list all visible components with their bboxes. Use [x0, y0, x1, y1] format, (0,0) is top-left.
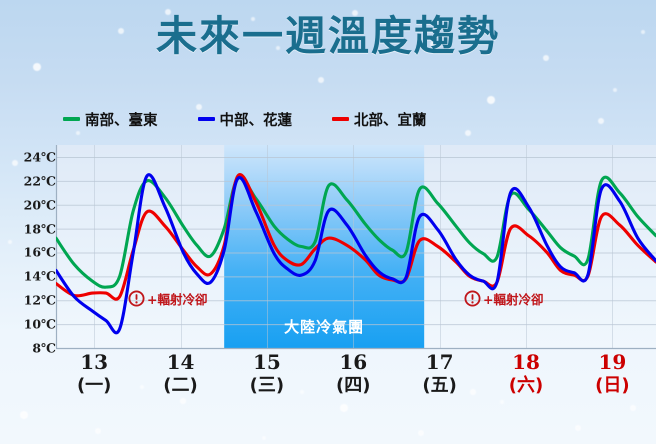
- snow-dot: [318, 77, 324, 83]
- line-swatch-icon: [63, 117, 80, 121]
- x-axis-weekday: (六): [489, 374, 563, 398]
- x-axis-day-number: 13: [57, 350, 131, 374]
- line-swatch-icon: [332, 117, 349, 121]
- x-axis-weekday: (二): [144, 374, 218, 398]
- x-axis-weekday: (四): [316, 374, 390, 398]
- snow-dot: [20, 411, 28, 419]
- x-axis: 13(一)14(二)15(三)16(四)17(五)18(六)19(日): [0, 350, 656, 408]
- snow-dot: [76, 131, 80, 135]
- line-swatch-icon: [198, 117, 215, 121]
- radiative-cooling-annotation-1: +輻射冷卻: [128, 289, 207, 308]
- page-title: 未來一週溫度趨勢: [0, 8, 656, 64]
- legend-item-south: 南部、臺東: [63, 109, 158, 130]
- radiative-cooling-annotation-2: +輻射冷卻: [464, 289, 543, 308]
- snow-dot: [95, 428, 101, 434]
- weather-forecast-infographic: 未來一週溫度趨勢 南部、臺東 中部、花蓮 北部、宜蘭 8℃10℃12℃14℃16…: [0, 0, 656, 444]
- snow-dot: [465, 130, 471, 136]
- x-axis-tick-15: 15(三): [230, 350, 304, 398]
- snow-dot: [575, 425, 581, 431]
- legend-label-north: 北部、宜蘭: [354, 109, 427, 130]
- x-axis-weekday: (日): [575, 374, 649, 398]
- x-axis-tick-19: 19(日): [575, 350, 649, 398]
- x-axis-weekday: (三): [230, 374, 304, 398]
- x-axis-weekday: (五): [403, 374, 477, 398]
- annotation-text: +輻射冷卻: [483, 289, 543, 308]
- legend-label-central: 中部、花蓮: [220, 109, 293, 130]
- x-axis-tick-17: 17(五): [403, 350, 477, 398]
- annotation-text: +輻射冷卻: [147, 289, 207, 308]
- x-axis-weekday: (一): [57, 374, 131, 398]
- snow-dot: [598, 118, 604, 124]
- x-axis-day-number: 17: [403, 350, 477, 374]
- x-axis-day-number: 14: [144, 350, 218, 374]
- x-axis-day-number: 16: [316, 350, 390, 374]
- legend-label-south: 南部、臺東: [85, 109, 158, 130]
- snow-dot: [487, 96, 495, 104]
- x-axis-tick-16: 16(四): [316, 350, 390, 398]
- legend-item-north: 北部、宜蘭: [332, 109, 427, 130]
- x-axis-tick-13: 13(一): [57, 350, 131, 398]
- x-axis-day-number: 19: [575, 350, 649, 374]
- x-axis-tick-14: 14(二): [144, 350, 218, 398]
- x-axis-day-number: 15: [230, 350, 304, 374]
- exclamation-circle-icon: [464, 290, 481, 307]
- x-axis-day-number: 18: [489, 350, 563, 374]
- snow-dot: [33, 63, 41, 71]
- snow-dot: [613, 88, 617, 92]
- chart-legend: 南部、臺東 中部、花蓮 北部、宜蘭: [63, 108, 427, 130]
- exclamation-circle-icon: [128, 290, 145, 307]
- legend-item-central: 中部、花蓮: [198, 109, 293, 130]
- x-axis-tick-18: 18(六): [489, 350, 563, 398]
- snow-dot: [262, 436, 266, 440]
- snow-dot: [418, 430, 424, 436]
- cold-air-mass-label: 大陸冷氣團: [224, 316, 424, 337]
